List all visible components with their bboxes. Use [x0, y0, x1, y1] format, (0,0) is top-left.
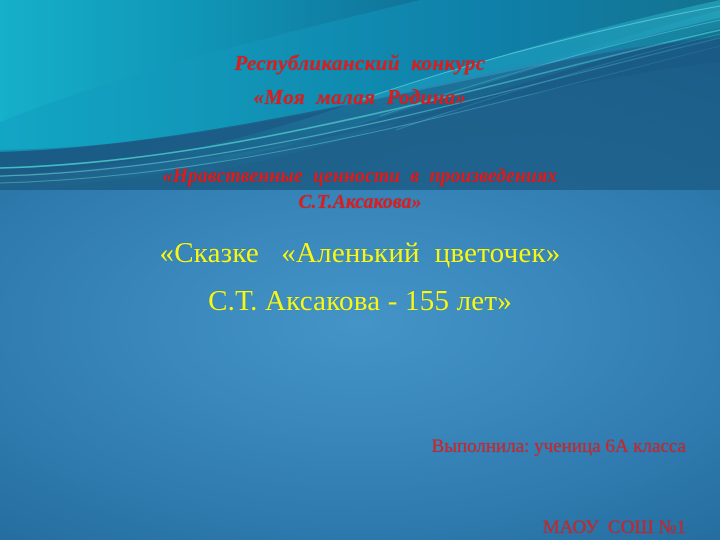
- contest-line-2: «Моя малая Родина»: [0, 86, 720, 110]
- theme-line-2: С.Т.Аксакова»: [0, 192, 720, 214]
- author-block: Выполнила: ученица 6А класса МАОУ СОШ №1…: [432, 380, 686, 540]
- contest-line-1: Республиканский конкурс: [0, 52, 720, 76]
- theme-line-1: «Нравственные ценности в произведениях: [0, 166, 720, 188]
- author-line-1: Выполнила: ученица 6А класса: [432, 434, 686, 461]
- main-title-line-1: «Сказке «Аленький цветочек»: [0, 237, 720, 269]
- presentation-slide: Республиканский конкурс «Моя малая Родин…: [0, 0, 720, 540]
- main-title-line-2: С.Т. Аксакова - 155 лет»: [0, 285, 720, 317]
- author-line-2: МАОУ СОШ №1: [432, 515, 686, 540]
